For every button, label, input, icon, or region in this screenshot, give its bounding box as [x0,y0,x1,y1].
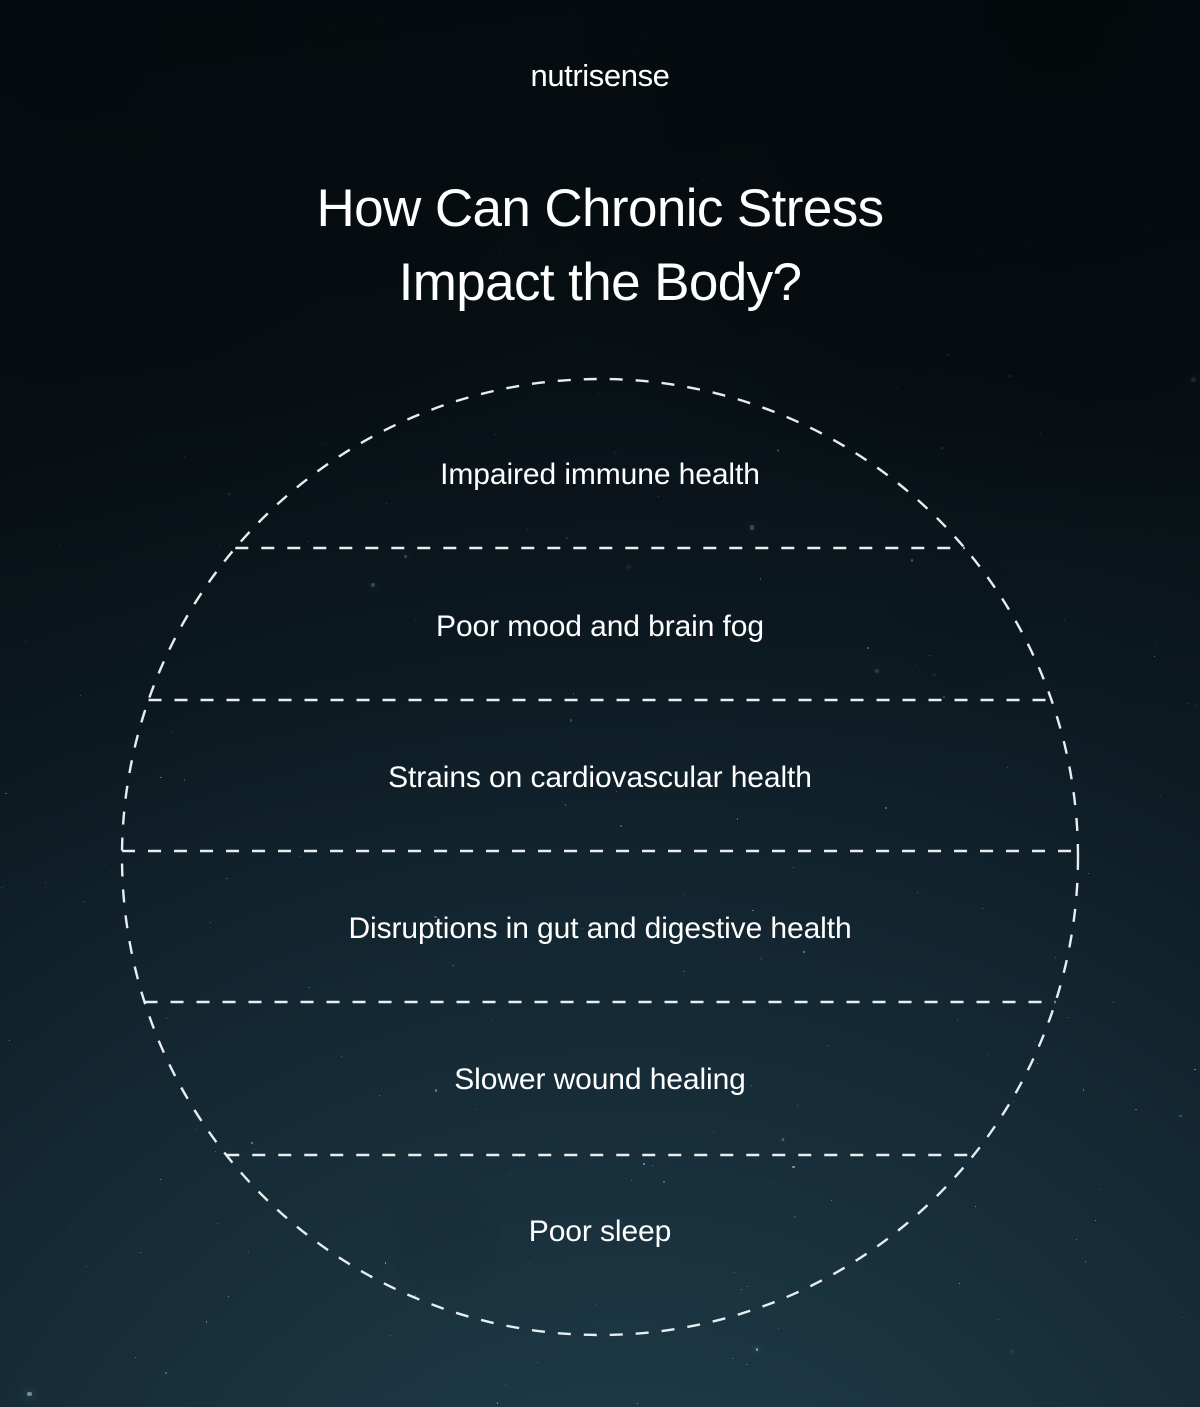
diagram-item-label: Disruptions in gut and digestive health [0,911,1200,947]
diagram-item-label: Poor sleep [0,1214,1200,1250]
diagram-circle-outline [122,379,1078,1335]
circle-diagram-svg [0,0,1200,1407]
diagram-item-label: Slower wound healing [0,1062,1200,1098]
diagram-item-label: Strains on cardiovascular health [0,760,1200,796]
diagram-item-label: Poor mood and brain fog [0,609,1200,645]
circle-diagram [0,0,1200,1407]
infographic-poster: nutrisense How Can Chronic Stress Impact… [0,0,1200,1407]
diagram-item-label: Impaired immune health [0,457,1200,493]
